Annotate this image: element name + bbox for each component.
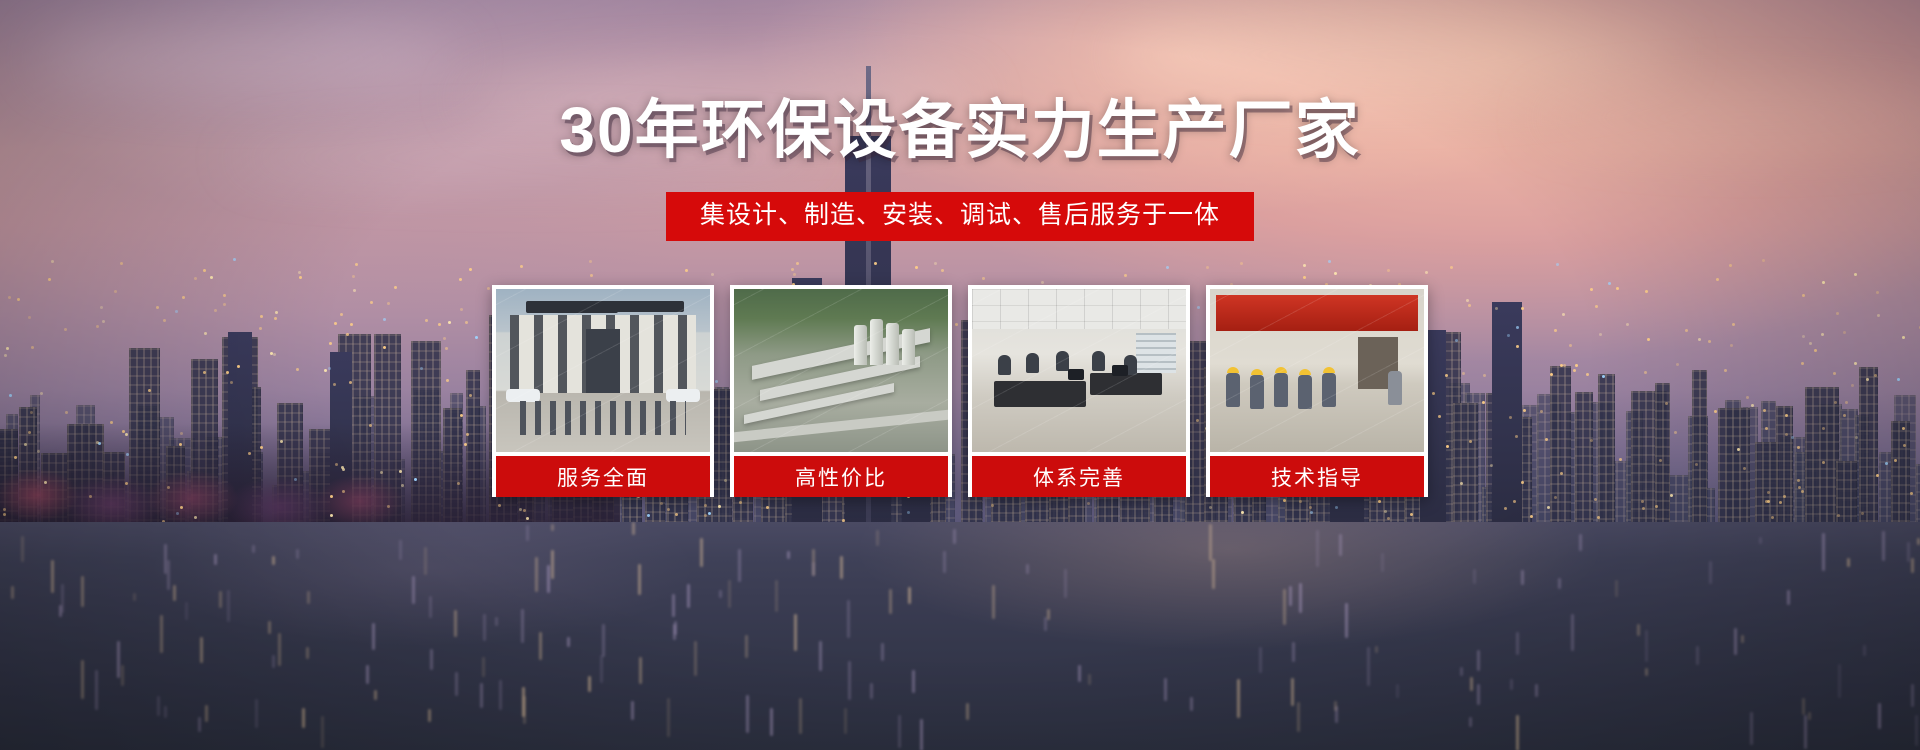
feature-card[interactable]: 技术指导 bbox=[1206, 285, 1428, 497]
card-image-system bbox=[972, 289, 1186, 452]
hero-content: 30年环保设备实力生产厂家 集设计、制造、安装、调试、售后服务于一体 服务全面 bbox=[0, 0, 1920, 750]
subtitle-banner-wrap: 集设计、制造、安装、调试、售后服务于一体 bbox=[0, 192, 1920, 241]
feature-card[interactable]: 高性价比 bbox=[730, 285, 952, 497]
feature-card[interactable]: 服务全面 bbox=[492, 285, 714, 497]
card-caption: 服务全面 bbox=[496, 456, 710, 497]
card-caption: 体系完善 bbox=[972, 456, 1186, 497]
card-image-value bbox=[734, 289, 948, 452]
card-caption: 高性价比 bbox=[734, 456, 948, 497]
card-caption: 技术指导 bbox=[1210, 456, 1424, 497]
card-image-guidance bbox=[1210, 289, 1424, 452]
subtitle-banner: 集设计、制造、安装、调试、售后服务于一体 bbox=[666, 192, 1254, 241]
page-title: 30年环保设备实力生产厂家 bbox=[0, 98, 1920, 162]
feature-card[interactable]: 体系完善 bbox=[968, 285, 1190, 497]
card-image-service bbox=[496, 289, 710, 452]
hero-banner: 30年环保设备实力生产厂家 集设计、制造、安装、调试、售后服务于一体 服务全面 bbox=[0, 0, 1920, 750]
feature-card-list: 服务全面 高性价比 bbox=[0, 285, 1920, 497]
